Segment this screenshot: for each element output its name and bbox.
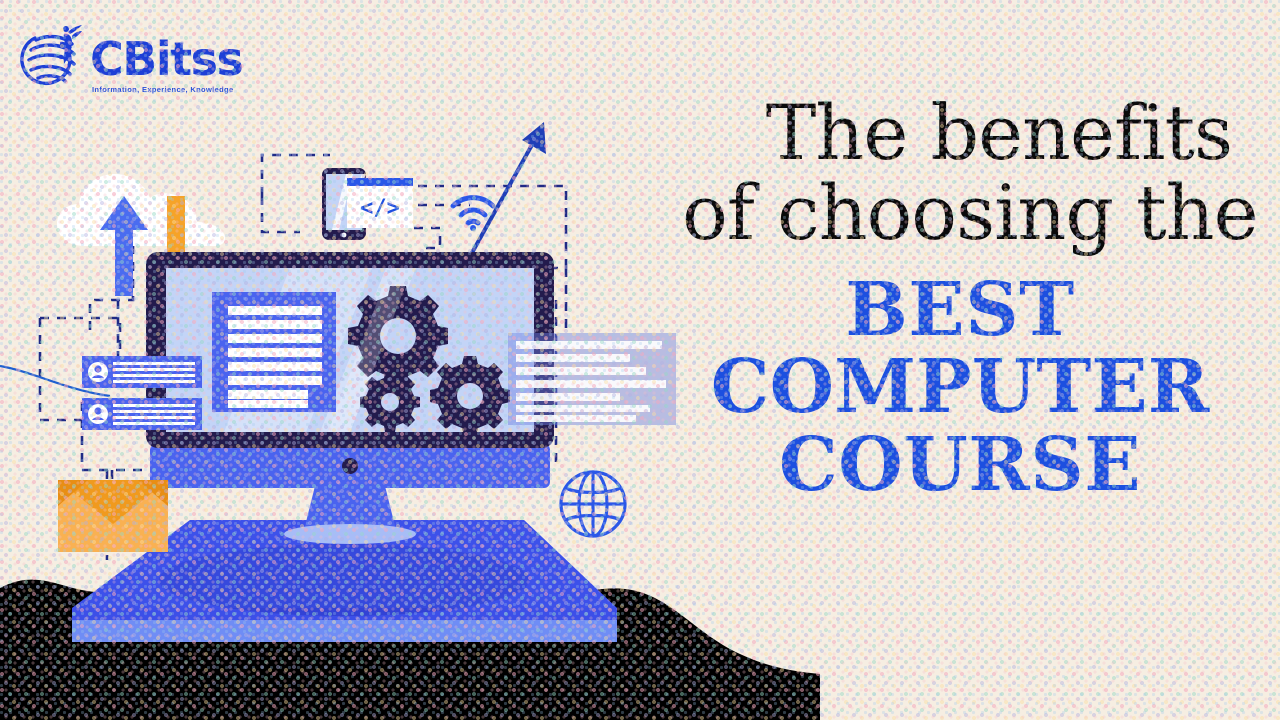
headline-block: The benefits of choosing the BEST COMPUT…	[680, 96, 1240, 503]
list-item	[82, 356, 202, 388]
globe-person-icon	[22, 16, 94, 92]
headline-line-2: of choosing the	[680, 176, 1240, 250]
banner-canvas: </>	[0, 0, 1280, 720]
brand-name: CBitss	[90, 36, 242, 82]
brand-tagline: Information, Experience, Knowledge	[92, 85, 242, 94]
desktop-monitor	[140, 248, 560, 548]
list-item	[82, 398, 202, 430]
envelope-icon	[58, 480, 168, 552]
headline-emphasis-1: BEST	[680, 273, 1240, 348]
wifi-icon	[450, 195, 496, 231]
headline-emphasis-2: COMPUTER	[680, 350, 1240, 425]
code-window-icon: </>	[347, 178, 413, 228]
user-list-card	[82, 356, 202, 434]
globe-icon	[557, 468, 629, 540]
document-card	[212, 292, 336, 412]
headline-emphasis-3: COURSE	[680, 428, 1240, 503]
text-lines-card	[508, 333, 676, 425]
code-glyph: </>	[360, 196, 400, 221]
headline-line-1: The benefits	[680, 96, 1240, 170]
brand-logo[interactable]: CBitss Information, Experience, Knowledg…	[22, 16, 242, 94]
